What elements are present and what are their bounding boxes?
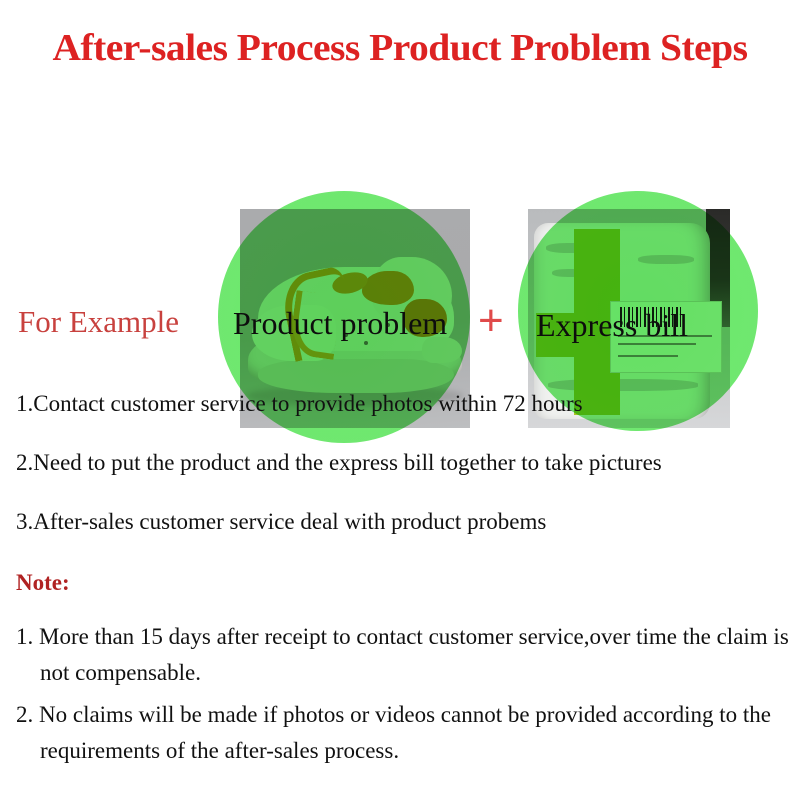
shoe-midsole — [258, 359, 454, 393]
step-item-2: 2.Need to put the product and the expres… — [16, 451, 788, 474]
note-item-1: 1. More than 15 days after receipt to co… — [16, 619, 794, 691]
step-item-3: 3.After-sales customer service deal with… — [16, 510, 788, 533]
steps-list: 1.Contact customer service to provide ph… — [16, 392, 788, 569]
parcel-crease — [638, 255, 694, 264]
note-section: Note: 1. More than 15 days after receipt… — [16, 570, 794, 775]
express-photo-caption: Express bill — [536, 307, 688, 344]
page-title: After-sales Process Product Problem Step… — [0, 26, 800, 70]
step-item-1: 1.Contact customer service to provide ph… — [16, 392, 788, 415]
plus-icon: + — [478, 299, 504, 343]
shipping-label-line — [618, 355, 678, 357]
shoe-orange-panel-a — [362, 271, 414, 305]
for-example-label: For Example — [18, 304, 179, 340]
parcel-crease — [548, 379, 698, 391]
note-heading: Note: — [16, 570, 794, 596]
product-photo-caption: Product problem — [233, 305, 447, 342]
note-item-2: 2. No claims will be made if photos or v… — [16, 697, 794, 769]
example-row: For Example Product problem + — [0, 95, 800, 345]
